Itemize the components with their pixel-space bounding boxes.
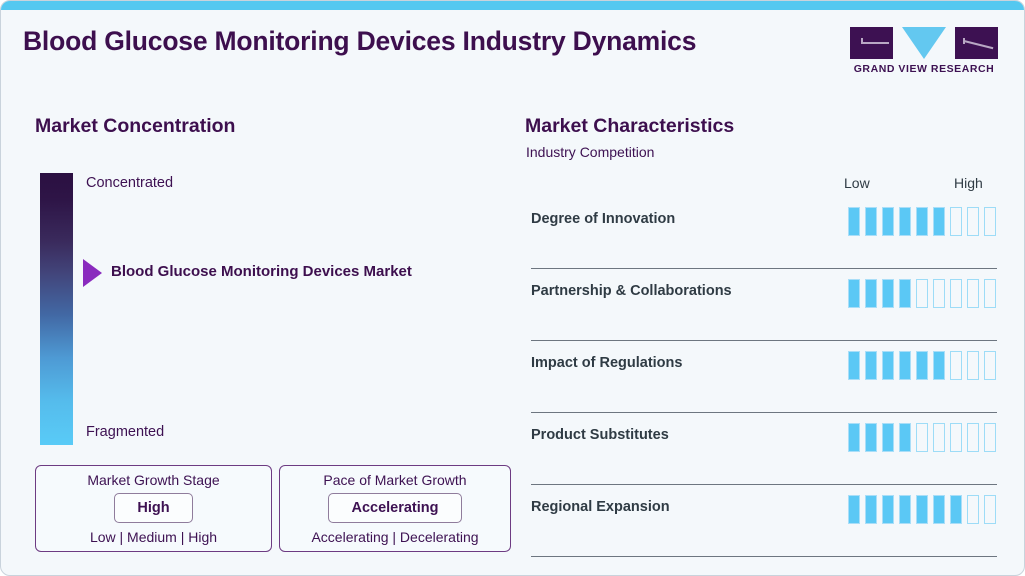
market-growth-stage-value: High bbox=[137, 500, 169, 516]
market-growth-stage-value-chip: High bbox=[114, 493, 192, 523]
scale-label-fragmented: Fragmented bbox=[86, 424, 164, 440]
market-growth-stage-box: Market Growth Stage High Low | Medium | … bbox=[35, 465, 272, 552]
rating-segment-empty bbox=[967, 351, 979, 380]
concentration-gradient-scale bbox=[40, 173, 73, 445]
characteristic-label: Impact of Regulations bbox=[531, 355, 682, 371]
scale-label-concentrated: Concentrated bbox=[86, 175, 173, 191]
rating-segment-filled bbox=[882, 495, 894, 524]
characteristic-rating-bars bbox=[848, 495, 996, 524]
market-growth-stage-heading: Market Growth Stage bbox=[36, 472, 271, 488]
market-concentration-title: Market Concentration bbox=[35, 115, 235, 138]
market-characteristics-title: Market Characteristics bbox=[525, 115, 734, 138]
rating-segment-empty bbox=[967, 207, 979, 236]
rating-segment-filled bbox=[882, 279, 894, 308]
rating-segment-filled bbox=[882, 351, 894, 380]
rating-segment-filled bbox=[933, 495, 945, 524]
rating-segment-filled bbox=[865, 495, 877, 524]
row-divider bbox=[531, 556, 997, 557]
characteristic-label: Partnership & Collaborations bbox=[531, 283, 732, 299]
rating-segment-filled bbox=[899, 279, 911, 308]
market-growth-stage-options: Low | Medium | High bbox=[36, 529, 271, 545]
rating-segment-filled bbox=[882, 423, 894, 452]
rating-segment-empty bbox=[950, 279, 962, 308]
rating-segment-filled bbox=[848, 495, 860, 524]
rating-segment-empty bbox=[967, 279, 979, 308]
market-characteristics-subtitle: Industry Competition bbox=[526, 144, 654, 160]
logo-r-notch-vertical bbox=[963, 38, 965, 44]
grand-view-research-logo: GRAND VIEW RESEARCH bbox=[850, 27, 998, 79]
rating-segment-empty bbox=[950, 207, 962, 236]
characteristic-row: Product Substitutes bbox=[530, 413, 996, 485]
rating-segment-filled bbox=[899, 495, 911, 524]
logo-marks bbox=[850, 27, 998, 59]
rating-segment-filled bbox=[950, 495, 962, 524]
rating-segment-empty bbox=[984, 207, 996, 236]
rating-segment-filled bbox=[865, 279, 877, 308]
rating-segment-filled bbox=[882, 207, 894, 236]
rating-segment-empty bbox=[950, 423, 962, 452]
characteristic-label: Degree of Innovation bbox=[531, 211, 675, 227]
rating-segment-empty bbox=[916, 279, 928, 308]
pace-of-market-growth-heading: Pace of Market Growth bbox=[280, 472, 510, 488]
logo-letter-v-triangle-icon bbox=[902, 27, 946, 59]
scale-header-low: Low bbox=[844, 175, 870, 191]
characteristic-label: Product Substitutes bbox=[531, 427, 669, 443]
market-position-label: Blood Glucose Monitoring Devices Market bbox=[111, 263, 412, 280]
rating-segment-filled bbox=[916, 351, 928, 380]
characteristic-rating-bars bbox=[848, 351, 996, 380]
characteristic-row: Partnership & Collaborations bbox=[530, 269, 996, 341]
rating-segment-filled bbox=[848, 423, 860, 452]
characteristic-row: Degree of Innovation bbox=[530, 197, 996, 269]
top-accent-bar bbox=[1, 1, 1025, 10]
infographic-canvas: Blood Glucose Monitoring Devices Industr… bbox=[0, 0, 1025, 576]
scale-header-high: High bbox=[954, 175, 983, 191]
rating-segment-filled bbox=[848, 207, 860, 236]
pace-of-market-growth-options: Accelerating | Decelerating bbox=[280, 529, 510, 545]
rating-segment-filled bbox=[848, 279, 860, 308]
rating-segment-filled bbox=[916, 207, 928, 236]
rating-segment-filled bbox=[865, 423, 877, 452]
logo-g-notch-vertical bbox=[861, 38, 863, 44]
rating-segment-filled bbox=[865, 207, 877, 236]
rating-segment-filled bbox=[899, 351, 911, 380]
logo-g-notch-horizontal bbox=[861, 42, 889, 44]
characteristic-label: Regional Expansion bbox=[531, 499, 670, 515]
rating-segment-empty bbox=[933, 423, 945, 452]
characteristic-rating-bars bbox=[848, 207, 996, 236]
rating-segment-filled bbox=[916, 495, 928, 524]
characteristic-row: Regional Expansion bbox=[530, 485, 996, 557]
rating-segment-empty bbox=[916, 423, 928, 452]
characteristic-rating-bars bbox=[848, 279, 996, 308]
rating-segment-empty bbox=[933, 279, 945, 308]
rating-segment-empty bbox=[967, 423, 979, 452]
pace-of-market-growth-value-chip: Accelerating bbox=[328, 493, 461, 523]
rating-segment-empty bbox=[984, 495, 996, 524]
rating-segment-filled bbox=[899, 207, 911, 236]
characteristic-row: Impact of Regulations bbox=[530, 341, 996, 413]
logo-wordmark: GRAND VIEW RESEARCH bbox=[850, 63, 998, 75]
rating-segment-filled bbox=[933, 207, 945, 236]
rating-segment-empty bbox=[950, 351, 962, 380]
pace-of-market-growth-value: Accelerating bbox=[351, 500, 438, 516]
rating-segment-empty bbox=[984, 279, 996, 308]
rating-segment-empty bbox=[984, 351, 996, 380]
rating-segment-filled bbox=[933, 351, 945, 380]
rating-segment-empty bbox=[967, 495, 979, 524]
characteristic-rating-bars bbox=[848, 423, 996, 452]
page-title: Blood Glucose Monitoring Devices Industr… bbox=[23, 26, 823, 57]
rating-segment-filled bbox=[899, 423, 911, 452]
pace-of-market-growth-box: Pace of Market Growth Accelerating Accel… bbox=[279, 465, 511, 552]
market-position-arrow-icon bbox=[83, 259, 102, 287]
rating-segment-filled bbox=[865, 351, 877, 380]
rating-segment-empty bbox=[984, 423, 996, 452]
rating-segment-filled bbox=[848, 351, 860, 380]
